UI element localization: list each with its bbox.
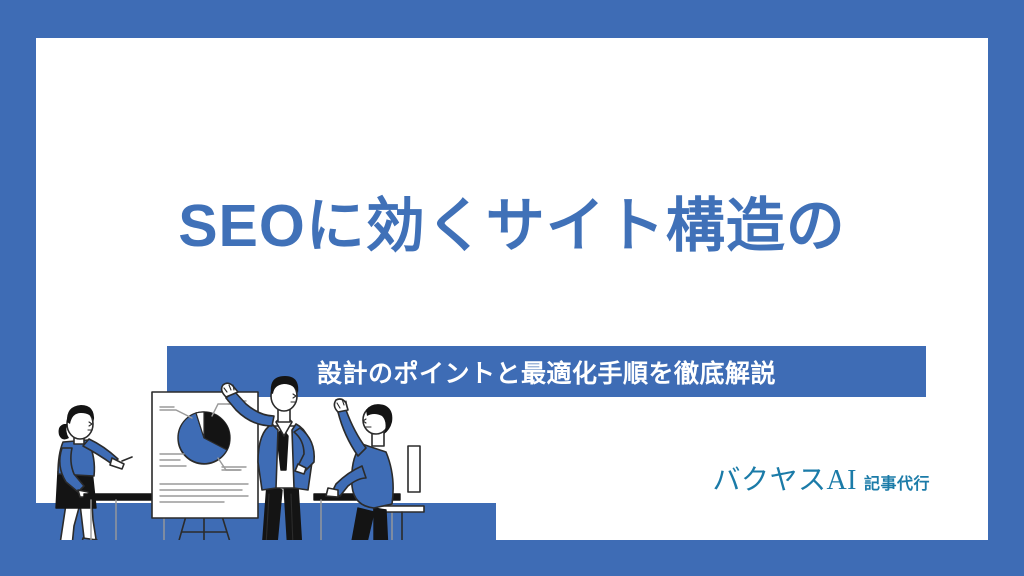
pie-chart [178,412,230,464]
page-title: SEOに効くサイト構造の [36,193,988,261]
brand-logo-service: 記事代行 [864,470,930,494]
figure-person-seated [326,399,426,540]
brand-logo: バクヤスAI 記事代行 [712,458,930,498]
slide-card: SEOに効くサイト構造の 設計のポイントと最適化手順を徹底解説 バクヤスAI 記… [36,38,988,540]
slide-frame: SEOに効くサイト構造の 設計のポイントと最適化手順を徹底解説 バクヤスAI 記… [0,0,1024,576]
figure-woman-pointing [54,405,132,540]
brand-logo-name: バクヤスAI [712,458,857,498]
office-illustration: .ln { fill:none; stroke:#2B2B2B; stroke-… [36,366,466,540]
